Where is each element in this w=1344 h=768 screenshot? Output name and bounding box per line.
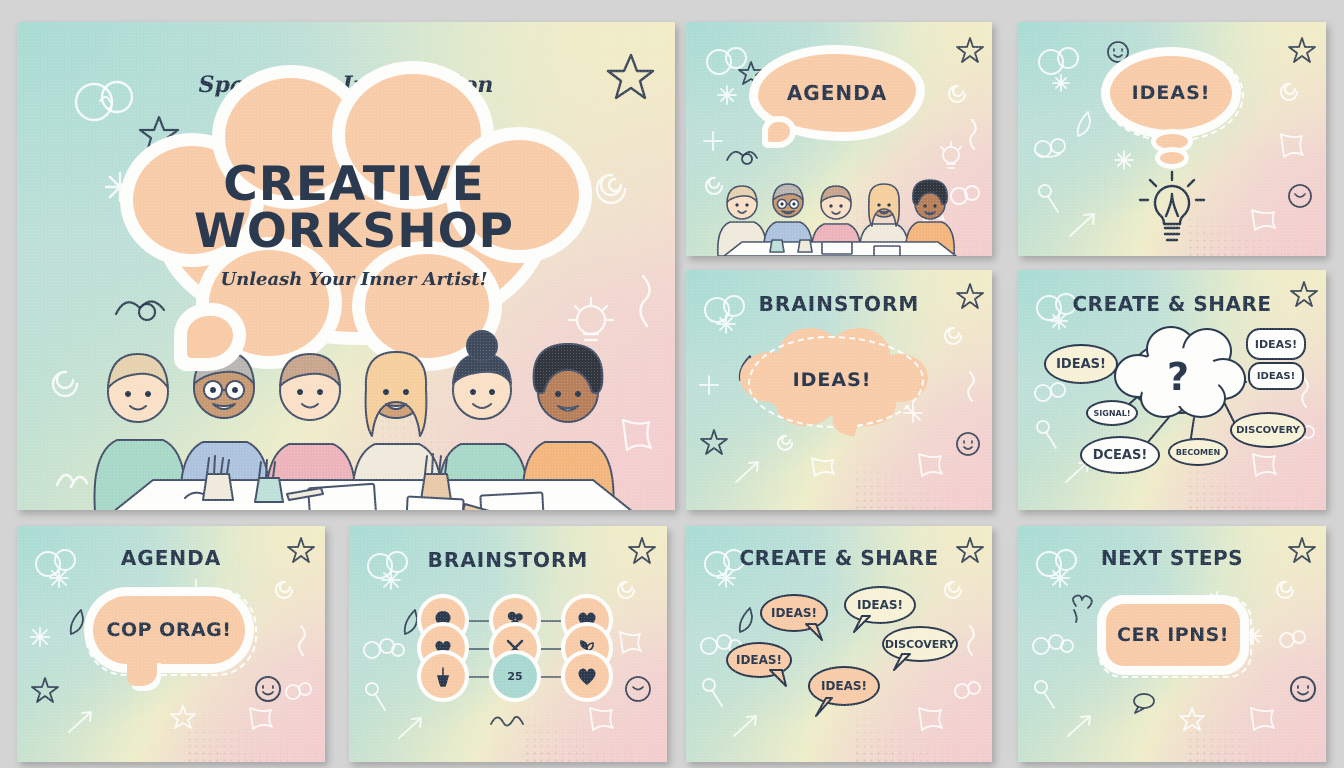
- mindmap-bubble[interactable]: SIGNAL!: [1086, 400, 1138, 426]
- mindmap-center-cloud[interactable]: ?: [1128, 340, 1228, 414]
- slide-title[interactable]: Spark Your Imagination CREATIVE WORKSHOP…: [17, 22, 675, 510]
- lightbulb-doodle: [936, 140, 966, 172]
- clock-doodle: [623, 674, 653, 704]
- star-doodle: [1178, 706, 1206, 732]
- bubble-tail: [768, 668, 790, 688]
- spiral-doodle: [772, 430, 800, 456]
- thought-dot-small: [1160, 152, 1184, 164]
- speech-bubble-label: DISCOVERY: [885, 638, 955, 651]
- brainstorm-cloud-bubble[interactable]: IDEAS!: [754, 344, 910, 416]
- flag-doodle: [585, 702, 619, 730]
- mindmap-bubble-label: SIGNAL!: [1094, 409, 1131, 418]
- slide-next-steps[interactable]: NEXT STEPS CER IPNS!: [1018, 526, 1326, 762]
- mindmap-bubble-label: IDEAS!: [1257, 371, 1295, 382]
- pin-doodle: [1036, 182, 1062, 214]
- dot-texture: [1187, 701, 1326, 762]
- wings-doodle: [724, 144, 758, 170]
- sparkle-doodle: [381, 570, 401, 590]
- speech-bubble-label: IDEAS!: [821, 679, 867, 693]
- node-brush[interactable]: [421, 654, 465, 698]
- ribbon-doodle: [291, 624, 311, 656]
- spiral-doodle: [938, 576, 970, 604]
- spiral-doodle: [269, 576, 301, 604]
- pin-doodle: [363, 680, 389, 712]
- flag-doodle: [1246, 702, 1280, 730]
- mindmap-center-label: ?: [1167, 355, 1189, 399]
- slide-heading: BRAINSTORM: [686, 292, 992, 316]
- flag-doodle: [914, 448, 948, 476]
- bubble-tail: [892, 652, 914, 672]
- mindmap-bubble[interactable]: DISCOVERY: [1230, 412, 1306, 448]
- heart-icon: [576, 666, 598, 686]
- sparkle-doodle: [716, 314, 736, 334]
- rings-doodle: [704, 44, 754, 78]
- agenda-bubble-label: AGENDA: [787, 81, 887, 105]
- ribbon-doodle: [960, 370, 980, 402]
- sparkle-doodle: [1114, 150, 1134, 170]
- flag-doodle: [615, 626, 645, 654]
- slide-heading: CREATE & SHARE: [686, 546, 992, 570]
- dot-texture: [524, 701, 667, 762]
- node-count[interactable]: 25: [493, 654, 537, 698]
- star-doodle: [956, 36, 984, 64]
- bubble-tail: [768, 122, 790, 142]
- mindmap-bubble[interactable]: IDEAS!: [1246, 328, 1306, 360]
- hero-text-block: CREATIVE WORKSHOP Unleash Your Inner Art…: [194, 162, 514, 289]
- mindmap-bubble-label: IDEAS!: [1255, 338, 1297, 351]
- spiral-doodle: [1274, 78, 1306, 106]
- clouds-doodle: [1030, 630, 1074, 658]
- ribbon-doodle: [962, 118, 982, 150]
- hero-subtitle: Unleash Your Inner Artist!: [194, 269, 514, 290]
- arrow-doodle: [1066, 208, 1100, 240]
- hero-title-line2: WORKSHOP: [194, 209, 514, 255]
- flag-doodle: [245, 702, 277, 730]
- heart-doodle: [1066, 592, 1100, 626]
- rings-doodle: [952, 676, 982, 704]
- lightbulb-icon: [1136, 170, 1208, 246]
- flag-doodle: [1248, 204, 1282, 230]
- ribbon-doodle: [960, 624, 980, 656]
- slide-heading: NEXT STEPS: [1018, 546, 1326, 570]
- smiley-doodle: [954, 430, 982, 458]
- slide-deck-board: Spark Your Imagination CREATIVE WORKSHOP…: [0, 0, 1344, 768]
- mindmap-bubble[interactable]: BECOMEN: [1168, 438, 1228, 466]
- star-doodle: [1288, 36, 1316, 64]
- arrow-doodle: [732, 456, 764, 486]
- smiley-doodle: [253, 674, 283, 704]
- slide-brainstorm-nodes[interactable]: BRAINSTORM: [349, 526, 667, 762]
- slide-brainstorm-cloud[interactable]: BRAINSTORM IDEAS!: [686, 270, 992, 510]
- bubble-tail: [127, 658, 157, 686]
- agenda-speech-bubble[interactable]: COP ORAG!: [93, 596, 245, 664]
- sparkle-doodle: [185, 578, 207, 598]
- feather-doodle: [1072, 108, 1094, 140]
- sparkle-doodle: [103, 170, 137, 204]
- feather-doodle: [65, 606, 87, 638]
- spiral-doodle: [942, 80, 974, 108]
- hero-kicker: Spark Your Imagination: [17, 72, 675, 98]
- dot-texture: [854, 701, 992, 762]
- flag-doodle: [1276, 128, 1308, 156]
- agenda-cloud-bubble[interactable]: AGENDA: [758, 54, 916, 132]
- sparkle-doodle: [902, 402, 924, 424]
- dot-texture: [1187, 195, 1326, 256]
- rings-doodle: [283, 678, 313, 704]
- hero-title-line1: CREATIVE: [194, 162, 514, 208]
- slide-agenda-people[interactable]: AGENDA: [686, 22, 992, 256]
- next-steps-bubble[interactable]: CER IPNS!: [1106, 604, 1240, 666]
- sparkle-doodle: [29, 626, 51, 648]
- star-doodle: [700, 428, 728, 456]
- brainstorm-bubble-label: IDEAS!: [793, 369, 872, 391]
- hero-cloud-bubble[interactable]: CREATIVE WORKSHOP Unleash Your Inner Art…: [169, 120, 539, 332]
- speech-bubble-label: IDEAS!: [736, 653, 782, 667]
- smiley-doodle: [1288, 674, 1318, 704]
- rings-doodle: [1036, 44, 1086, 78]
- slide-create-share-bubbles[interactable]: CREATE & SHARE IDEAS! IDEAS! IDEAS! DISC…: [686, 526, 992, 762]
- feather-doodle: [734, 604, 756, 636]
- people-illustration: [77, 322, 637, 510]
- next-steps-bubble-label: CER IPNS!: [1117, 624, 1229, 646]
- smiley-doodle: [1106, 40, 1130, 64]
- pin-doodle: [700, 676, 726, 708]
- dot-texture: [854, 448, 992, 510]
- brush-icon: [434, 665, 452, 687]
- slide-create-share-mindmap[interactable]: CREATE & SHARE ? IDEAS! SIGNAL! D: [1018, 270, 1326, 510]
- slide-agenda-bubble[interactable]: AGENDA COP ORAG!: [17, 526, 325, 762]
- mindmap-bubble-label: DISCOVERY: [1236, 425, 1300, 436]
- sparkle-doodle: [1052, 74, 1070, 92]
- spiral-doodle: [938, 322, 970, 350]
- spiral-doodle: [611, 576, 643, 604]
- slide-heading: AGENDA: [17, 546, 325, 570]
- spiral-doodle: [1270, 576, 1302, 604]
- slide-heading: BRAINSTORM: [349, 548, 667, 572]
- bubble-tail: [852, 614, 874, 634]
- flag-doodle: [914, 702, 948, 730]
- arrow-doodle: [1064, 710, 1096, 740]
- clouds-doodle: [1276, 626, 1306, 652]
- clock-doodle: [1286, 182, 1314, 210]
- mindmap-bubble[interactable]: DCEAS!: [1080, 436, 1160, 474]
- chat-doodle: [1130, 690, 1158, 714]
- feather-doodle: [399, 606, 421, 638]
- mindmap-bubble[interactable]: IDEAS!: [1248, 362, 1304, 390]
- sparkle-doodle: [1242, 626, 1264, 646]
- sparkle-doodle: [49, 568, 69, 588]
- flag-doodle: [808, 452, 840, 476]
- arrow-doodle: [395, 712, 427, 742]
- sparkle-doodle: [716, 568, 736, 588]
- mindmap-bubble[interactable]: IDEAS!: [1044, 344, 1118, 384]
- squiggle-doodle: [487, 708, 527, 734]
- bubble-tail: [804, 622, 826, 642]
- mindmap-bubble-label: IDEAS!: [1056, 357, 1106, 372]
- star-doodle: [169, 704, 197, 730]
- speech-bubble-label: IDEAS!: [857, 598, 903, 612]
- ideas-bubble-label: IDEAS!: [1132, 82, 1211, 104]
- arrow-doodle: [730, 710, 762, 740]
- pin-doodle: [1032, 678, 1058, 710]
- spiral-doodle: [585, 164, 641, 214]
- arrow-doodle: [65, 706, 97, 736]
- sparkle-doodle: [702, 130, 724, 152]
- bubble-tail: [814, 696, 836, 718]
- clouds-doodle: [361, 634, 405, 662]
- clouds-doodle: [1032, 134, 1072, 162]
- node-heart[interactable]: [565, 654, 609, 698]
- sparkle-doodle: [1050, 568, 1070, 588]
- ideas-thought-bubble[interactable]: IDEAS!: [1110, 56, 1232, 130]
- sparkle-doodle: [716, 84, 738, 106]
- dot-texture: [186, 701, 325, 762]
- mindmap-bubble-label: DCEAS!: [1093, 448, 1148, 463]
- agenda-bubble-label: COP ORAG!: [107, 619, 232, 641]
- slide-ideas-bulb[interactable]: IDEAS!: [1018, 22, 1326, 256]
- node-count-label: 25: [507, 670, 522, 683]
- people-illustration: [714, 170, 964, 256]
- star-doodle: [31, 676, 59, 704]
- star-doodle: [738, 60, 764, 86]
- speech-bubble-label: IDEAS!: [771, 606, 817, 620]
- sparkle-doodle: [698, 374, 720, 396]
- mindmap-bubble-label: BECOMEN: [1176, 448, 1220, 457]
- thought-dot-large: [1156, 134, 1188, 149]
